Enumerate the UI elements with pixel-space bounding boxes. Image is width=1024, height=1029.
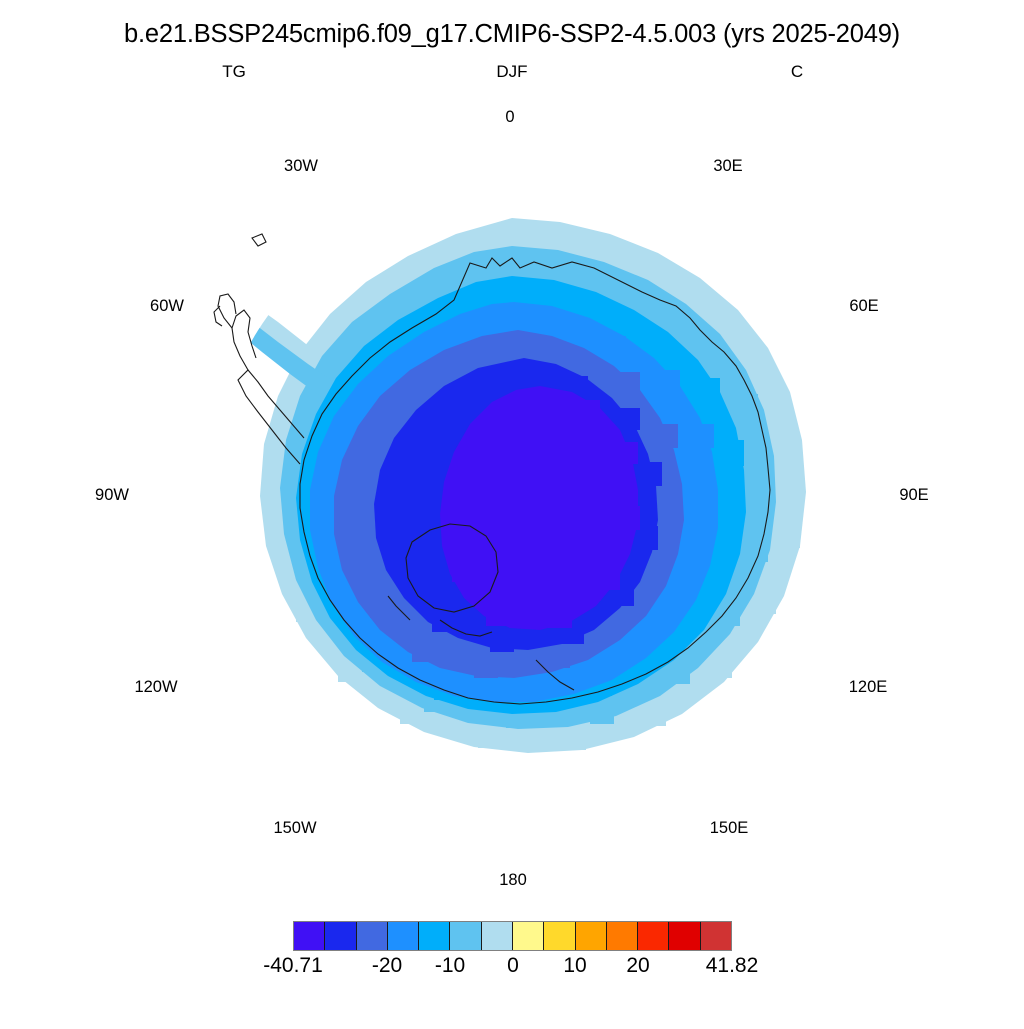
- colorbar-cell-5: [450, 922, 481, 950]
- colorbar: -40.71 -20 -10 0 10 20 41.82: [293, 921, 732, 951]
- lon-label-90w: 90W: [82, 486, 142, 505]
- colorbar-cell-8: [544, 922, 575, 950]
- lon-label-90e: 90E: [884, 486, 944, 505]
- colorbar-cell-4: [419, 922, 450, 950]
- colorbar-tick-10: 10: [563, 954, 586, 978]
- lon-label-30w: 30W: [271, 157, 331, 176]
- colorbar-cell-10: [607, 922, 638, 950]
- polar-map: 0 30W 30E 60W 60E 90W 90E 120W 120E 150W…: [0, 0, 1024, 1024]
- lon-label-30e: 30E: [698, 157, 758, 176]
- colorbar-cell-0: [294, 922, 325, 950]
- colorbar-cell-1: [325, 922, 356, 950]
- colorbar-cell-11: [638, 922, 669, 950]
- colorbar-cell-2: [357, 922, 388, 950]
- peninsula-warm-cell-south: [210, 345, 232, 365]
- lon-label-120e: 120E: [833, 678, 903, 697]
- lon-label-120w: 120W: [121, 678, 191, 697]
- plot-canvas: b.e21.BSSP245cmip6.f09_g17.CMIP6-SSP2-4.…: [0, 0, 1024, 1024]
- colorbar-cell-3: [388, 922, 419, 950]
- colorbar-cell-6: [482, 922, 513, 950]
- lon-label-180: 180: [483, 871, 543, 890]
- colorbar-tick-0: 0: [507, 954, 519, 978]
- colorbar-tick-max: 41.82: [706, 954, 759, 978]
- contour-fill-group: [210, 218, 806, 753]
- lon-label-60w: 60W: [137, 297, 197, 316]
- lon-label-60e: 60E: [834, 297, 894, 316]
- colorbar-cell-7: [513, 922, 544, 950]
- colorbar-tick-n10: -10: [435, 954, 465, 978]
- colorbar-cell-9: [576, 922, 607, 950]
- lon-label-150w: 150W: [260, 819, 330, 838]
- colorbar-tick-min: -40.71: [263, 954, 323, 978]
- lon-label-150e: 150E: [694, 819, 764, 838]
- lon-label-0: 0: [480, 108, 540, 127]
- colorbar-cell-12: [669, 922, 700, 950]
- colorbar-tick-20: 20: [626, 954, 649, 978]
- colorbar-tick-n20: -20: [372, 954, 402, 978]
- colorbar-cell-13: [701, 922, 731, 950]
- colorbar-strip[interactable]: [293, 921, 732, 951]
